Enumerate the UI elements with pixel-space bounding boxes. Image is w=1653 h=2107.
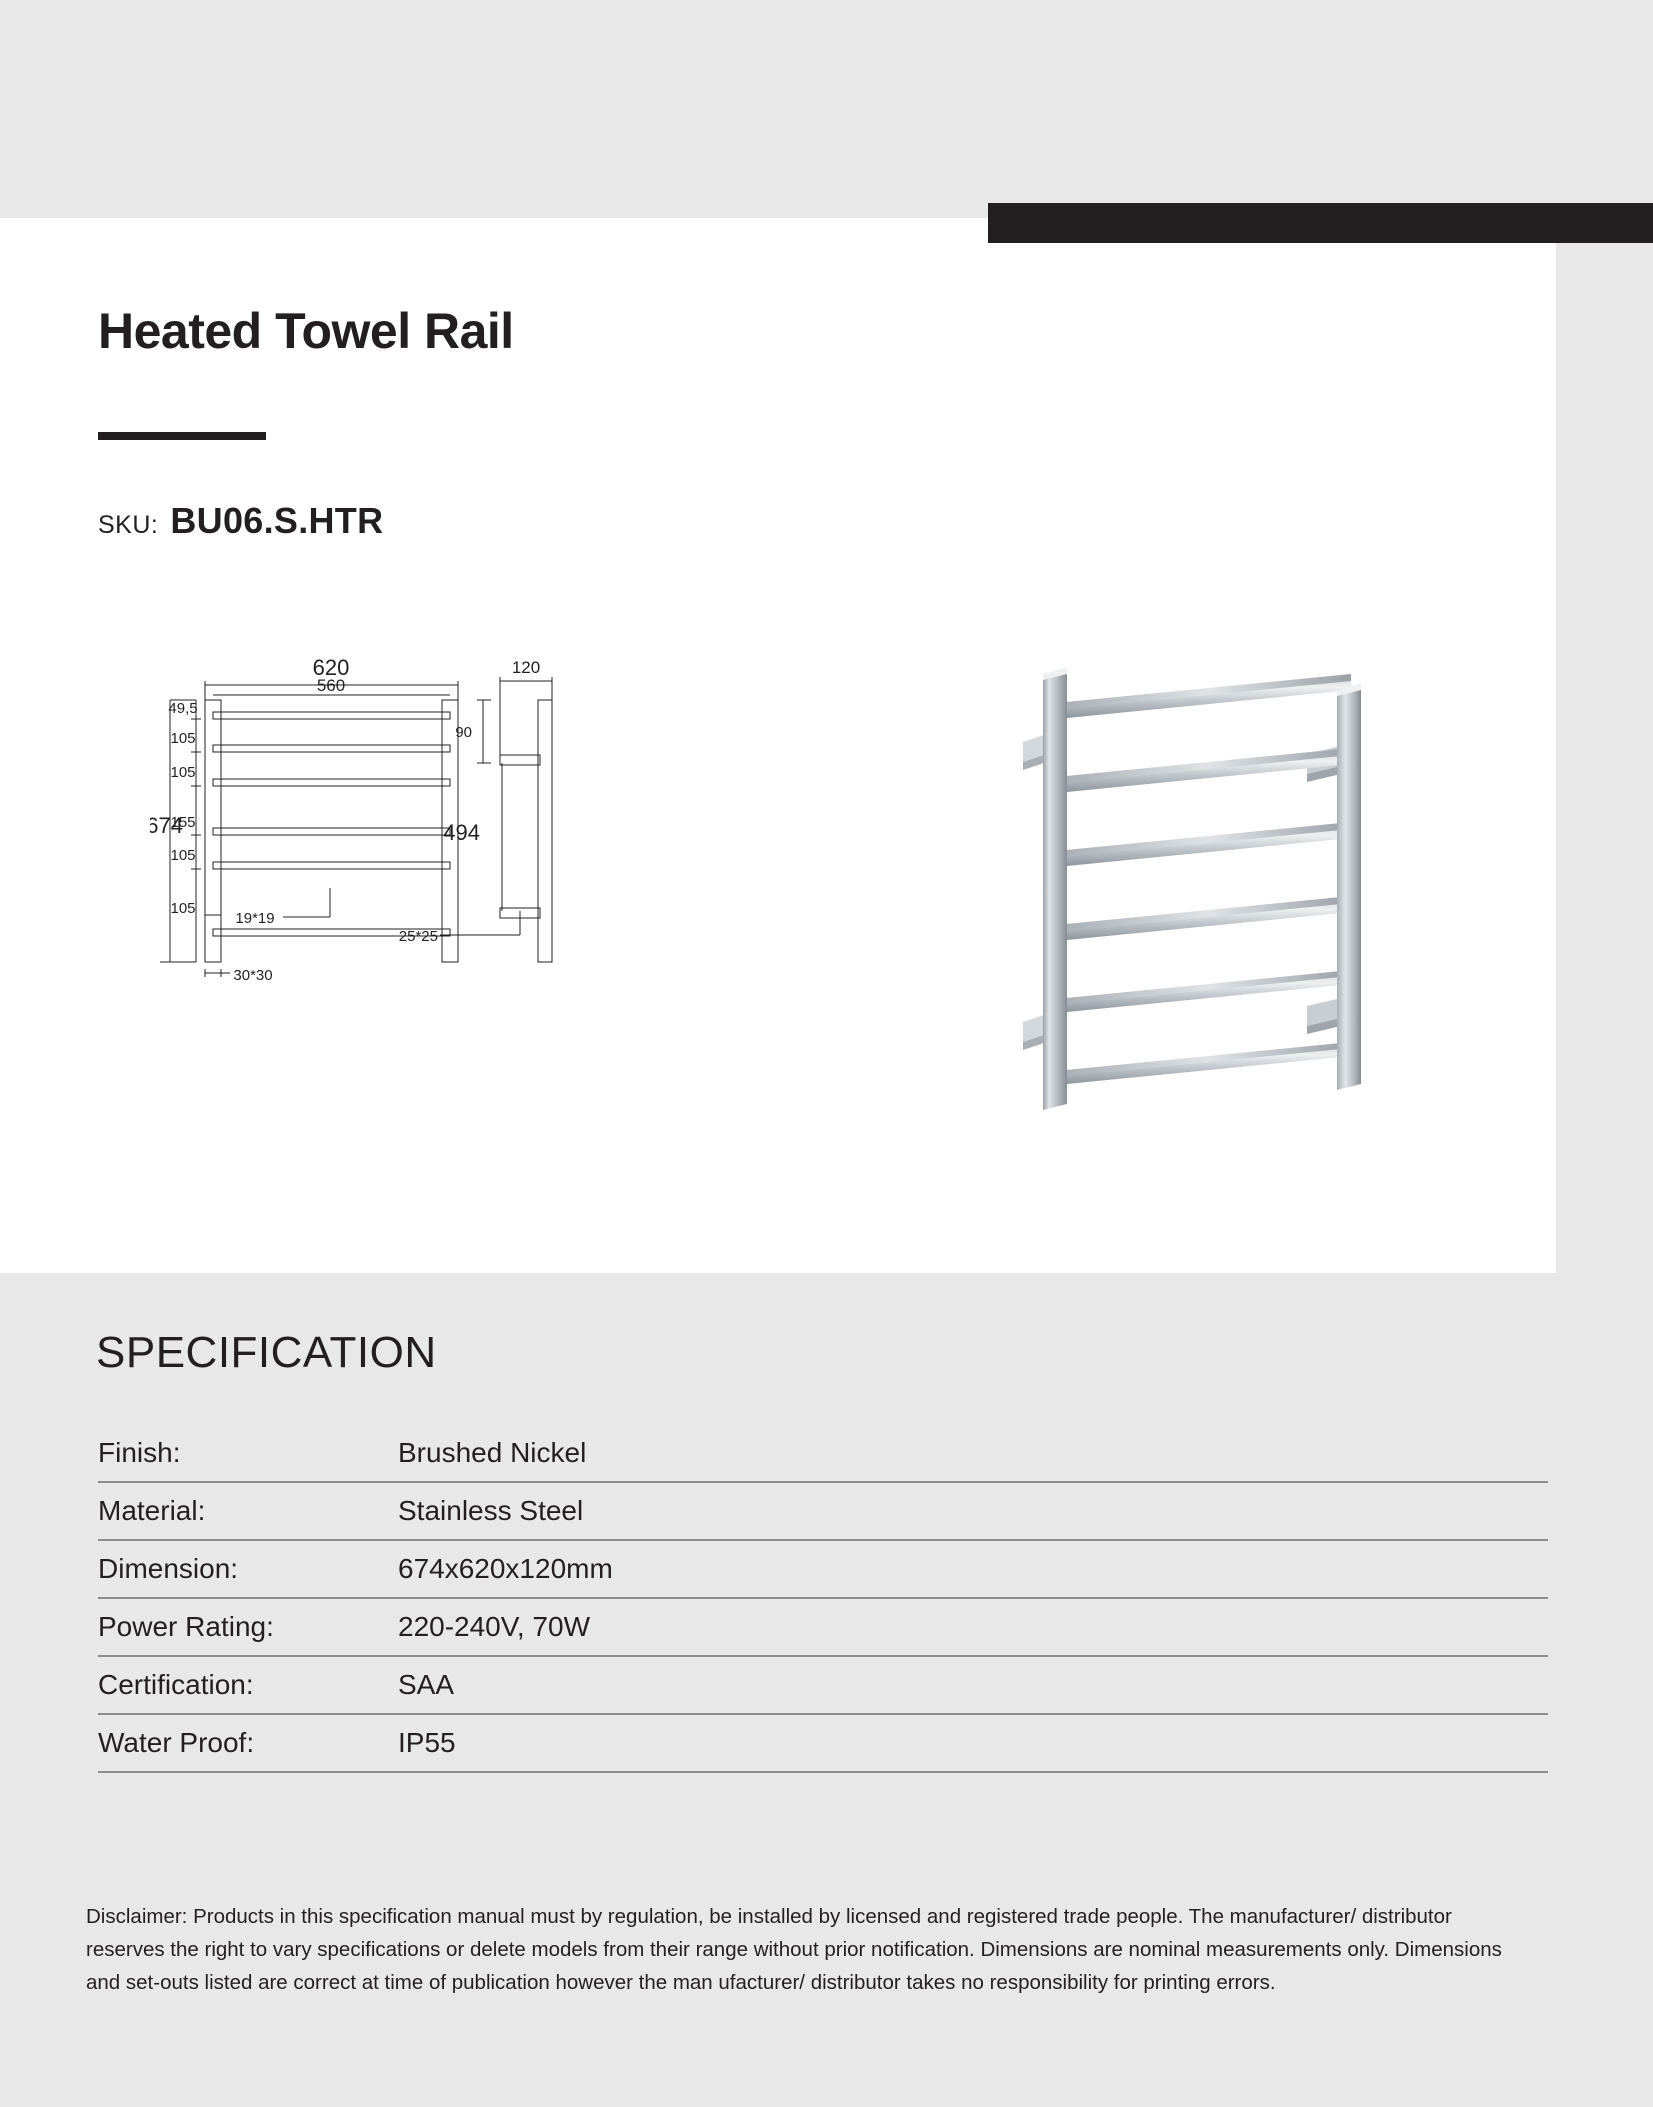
technical-drawing: 620 560 674 49,5 105 105 155 105 105 19*… bbox=[150, 655, 810, 1135]
disclaimer-text: Disclaimer: Products in this specificati… bbox=[86, 1900, 1536, 2000]
page-title: Heated Towel Rail bbox=[98, 302, 514, 360]
spec-value-power-rating: 220-240V, 70W bbox=[398, 1611, 590, 1643]
spec-label-finish: Finish: bbox=[98, 1437, 398, 1469]
spec-row-finish: Finish: Brushed Nickel bbox=[98, 1425, 1548, 1483]
post-left bbox=[1043, 668, 1067, 1110]
spec-sheet-page: Heated Towel Rail SKU: BU06.S.HTR bbox=[0, 0, 1653, 2107]
dim-inner-width: 560 bbox=[317, 676, 345, 695]
wall-bracket-lower-right bbox=[1307, 998, 1341, 1034]
title-underline-rule bbox=[98, 432, 266, 440]
dim-post-profile: 30*30 bbox=[233, 967, 272, 984]
spec-row-certification: Certification: SAA bbox=[98, 1657, 1548, 1715]
dim-depth: 120 bbox=[512, 658, 540, 677]
dim-rail-profile: 19*19 bbox=[235, 910, 274, 927]
spec-row-power-rating: Power Rating: 220-240V, 70W bbox=[98, 1599, 1548, 1657]
spec-label-certification: Certification: bbox=[98, 1669, 398, 1701]
rail-1 bbox=[1067, 674, 1351, 718]
header-accent-band bbox=[988, 203, 1653, 243]
product-photo bbox=[985, 650, 1395, 1120]
spec-value-material: Stainless Steel bbox=[398, 1495, 583, 1527]
sku-row: SKU: BU06.S.HTR bbox=[98, 500, 383, 542]
dim-bracket-profile: 25*25 bbox=[399, 928, 438, 945]
spec-value-finish: Brushed Nickel bbox=[398, 1437, 586, 1469]
spec-row-water-proof: Water Proof: IP55 bbox=[98, 1715, 1548, 1773]
spec-label-water-proof: Water Proof: bbox=[98, 1727, 398, 1759]
dim-seg-2: 105 bbox=[170, 730, 195, 747]
dim-seg-5: 105 bbox=[170, 847, 195, 864]
dim-seg-3: 105 bbox=[170, 764, 195, 781]
specification-heading: SPECIFICATION bbox=[96, 1328, 437, 1378]
spec-label-material: Material: bbox=[98, 1495, 398, 1527]
rail-4 bbox=[1067, 896, 1351, 940]
rail-3 bbox=[1067, 822, 1351, 866]
rail-6 bbox=[1067, 1042, 1351, 1084]
sku-label: SKU: bbox=[98, 511, 158, 540]
spec-value-water-proof: IP55 bbox=[398, 1727, 456, 1759]
dim-bracket-span: 494 bbox=[443, 820, 480, 845]
dim-bracket-offset: 90 bbox=[455, 724, 472, 741]
spec-value-certification: SAA bbox=[398, 1669, 454, 1701]
sku-value: BU06.S.HTR bbox=[170, 500, 383, 542]
spec-label-dimension: Dimension: bbox=[98, 1553, 398, 1585]
spec-row-dimension: Dimension: 674x620x120mm bbox=[98, 1541, 1548, 1599]
towel-rail-illustration bbox=[1023, 668, 1361, 1110]
spec-label-power-rating: Power Rating: bbox=[98, 1611, 398, 1643]
dim-seg-4: 155 bbox=[170, 814, 195, 831]
post-right bbox=[1337, 684, 1361, 1090]
dim-seg-1: 49,5 bbox=[168, 700, 197, 717]
specification-table: Finish: Brushed Nickel Material: Stainle… bbox=[98, 1425, 1548, 1773]
dim-seg-6: 105 bbox=[170, 900, 195, 917]
spec-value-dimension: 674x620x120mm bbox=[398, 1553, 613, 1585]
spec-row-material: Material: Stainless Steel bbox=[98, 1483, 1548, 1541]
